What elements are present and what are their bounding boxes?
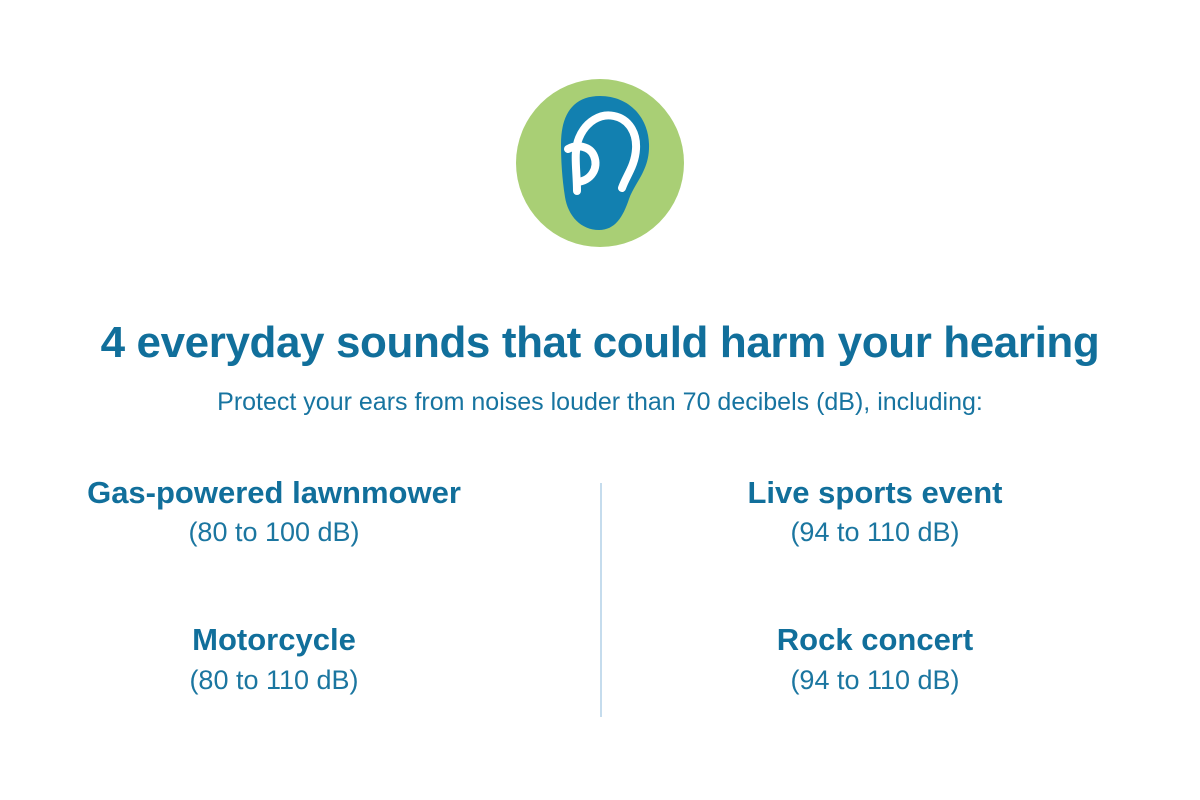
page-title: 4 everyday sounds that could harm your h… — [101, 320, 1100, 367]
sound-item-decibel-range: (94 to 110 dB) — [790, 665, 959, 696]
sound-item-decibel-range: (80 to 100 dB) — [188, 517, 359, 548]
sound-item-title: Live sports event — [748, 475, 1003, 511]
column-divider — [600, 483, 602, 717]
sound-item-motorcycle: Motorcycle (80 to 110 dB) — [0, 622, 600, 696]
sound-item-decibel-range: (80 to 110 dB) — [189, 665, 358, 696]
sound-item-title: Rock concert — [777, 622, 973, 658]
sound-item-rock-concert: Rock concert (94 to 110 dB) — [600, 622, 1200, 696]
sound-item-decibel-range: (94 to 110 dB) — [790, 517, 959, 548]
sound-item-live-sports: Live sports event (94 to 110 dB) — [600, 475, 1200, 549]
infographic-root: 4 everyday sounds that could harm your h… — [0, 0, 1200, 800]
sound-item-lawnmower: Gas-powered lawnmower (80 to 100 dB) — [0, 475, 600, 549]
sound-items-grid: Gas-powered lawnmower (80 to 100 dB) Liv… — [0, 475, 1200, 696]
sound-item-title: Gas-powered lawnmower — [87, 475, 461, 511]
ear-icon — [515, 78, 685, 248]
ear-icon-svg — [515, 78, 685, 248]
page-subtitle: Protect your ears from noises louder tha… — [217, 387, 983, 417]
sound-item-title: Motorcycle — [192, 622, 356, 658]
